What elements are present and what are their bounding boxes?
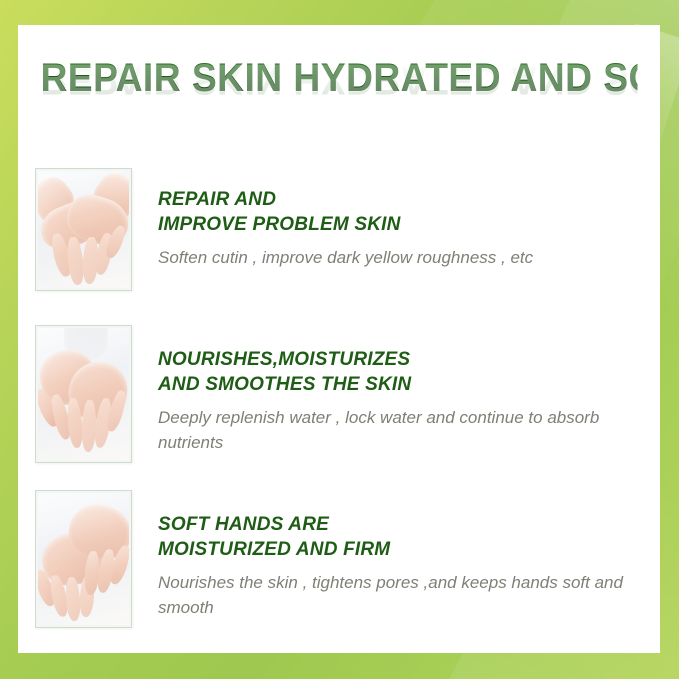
soft-hands-image	[38, 493, 129, 625]
feature-text-block: SOFT HANDS ARE MOISTURIZED AND FIRM Nour…	[158, 490, 660, 620]
feature-thumbnail-frame	[35, 325, 132, 463]
feature-heading: REPAIR AND IMPROVE PROBLEM SKIN	[158, 187, 660, 237]
feature-thumbnail-frame	[35, 490, 132, 628]
feature-body: Nourishes the skin , tightens pores ,and…	[158, 570, 628, 620]
feature-heading: NOURISHES,MOISTURIZES AND SMOOTHES THE S…	[158, 347, 660, 397]
feature-text-block: NOURISHES,MOISTURIZES AND SMOOTHES THE S…	[158, 325, 660, 455]
page-title-text: REPAIR SKIN HYDRATED AND SOFT	[40, 55, 637, 101]
feature-thumbnail-frame	[35, 168, 132, 291]
image-sheen	[38, 171, 129, 288]
page-title: REPAIR SKIN HYDRATED AND SOFT REPAIR SKI…	[18, 55, 660, 165]
poster-root: REPAIR SKIN HYDRATED AND SOFT REPAIR SKI…	[0, 0, 679, 679]
hands-backs-image	[38, 328, 129, 460]
open-palms-image	[38, 171, 129, 288]
feature-row: SOFT HANDS ARE MOISTURIZED AND FIRM Nour…	[18, 490, 660, 628]
image-sheen	[38, 328, 129, 460]
feature-heading: SOFT HANDS ARE MOISTURIZED AND FIRM	[158, 512, 660, 562]
image-sheen	[38, 493, 129, 625]
feature-text-block: REPAIR AND IMPROVE PROBLEM SKIN Soften c…	[158, 168, 660, 270]
feature-row: NOURISHES,MOISTURIZES AND SMOOTHES THE S…	[18, 325, 660, 463]
feature-body: Deeply replenish water , lock water and …	[158, 405, 628, 455]
content-panel: REPAIR SKIN HYDRATED AND SOFT REPAIR SKI…	[18, 25, 660, 653]
feature-row: REPAIR AND IMPROVE PROBLEM SKIN Soften c…	[18, 168, 660, 291]
feature-body: Soften cutin , improve dark yellow rough…	[158, 245, 628, 270]
